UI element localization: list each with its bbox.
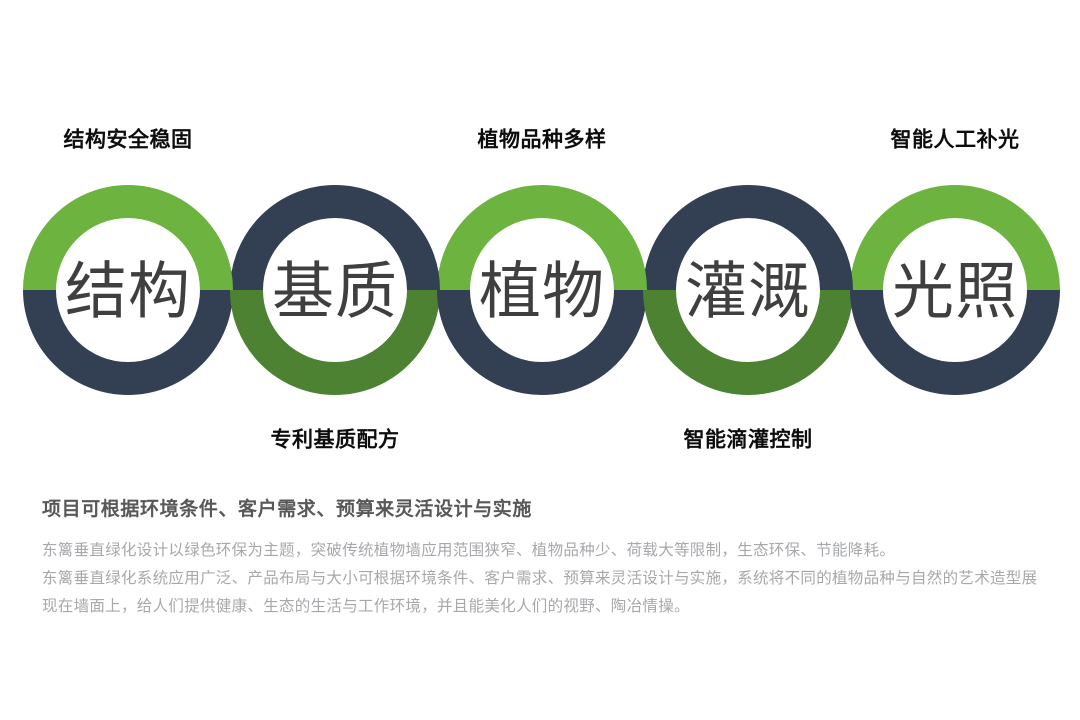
copy-line: 东篱垂直绿化系统应用广泛、产品布局与大小可根据环境条件、客户需求、预算来灵活设计… — [42, 565, 1042, 593]
copy-heading: 项目可根据环境条件、客户需求、预算来灵活设计与实施 — [42, 498, 1042, 523]
ring-caption-substrate: 专利基质配方 — [271, 428, 400, 452]
ring-caption-structure: 结构安全稳固 — [64, 128, 193, 152]
infographic-page: 结构结构安全稳固基质专利基质配方植物植物品种多样灌溉智能滴灌控制光照智能人工补光… — [0, 0, 1080, 720]
description-block: 项目可根据环境条件、客户需求、预算来灵活设计与实施 东篱垂直绿化设计以绿色环保为… — [42, 498, 1042, 621]
ring-chain-svg: 结构结构安全稳固基质专利基质配方植物植物品种多样灌溉智能滴灌控制光照智能人工补光 — [0, 0, 1080, 470]
ring-word-lighting: 光照 — [892, 258, 1018, 327]
ring-word-substrate: 基质 — [272, 258, 398, 327]
ring-word-plants: 植物 — [479, 258, 605, 327]
ring-caption-lighting: 智能人工补光 — [891, 128, 1020, 152]
ring-chain-diagram: 结构结构安全稳固基质专利基质配方植物植物品种多样灌溉智能滴灌控制光照智能人工补光 — [0, 0, 1080, 470]
ring-word-structure: 结构 — [65, 258, 191, 327]
copy-line: 东篱垂直绿化设计以绿色环保为主题，突破传统植物墙应用范围狭窄、植物品种少、荷载大… — [42, 537, 1042, 565]
copy-line: 现在墙面上，给人们提供健康、生态的生活与工作环境，并且能美化人们的视野、陶冶情操… — [42, 593, 1042, 621]
ring-caption-irrigation: 智能滴灌控制 — [684, 428, 813, 452]
ring-caption-plants: 植物品种多样 — [478, 128, 607, 152]
copy-paragraph: 东篱垂直绿化设计以绿色环保为主题，突破传统植物墙应用范围狭窄、植物品种少、荷载大… — [42, 537, 1042, 621]
ring-word-irrigation: 灌溉 — [685, 258, 811, 327]
